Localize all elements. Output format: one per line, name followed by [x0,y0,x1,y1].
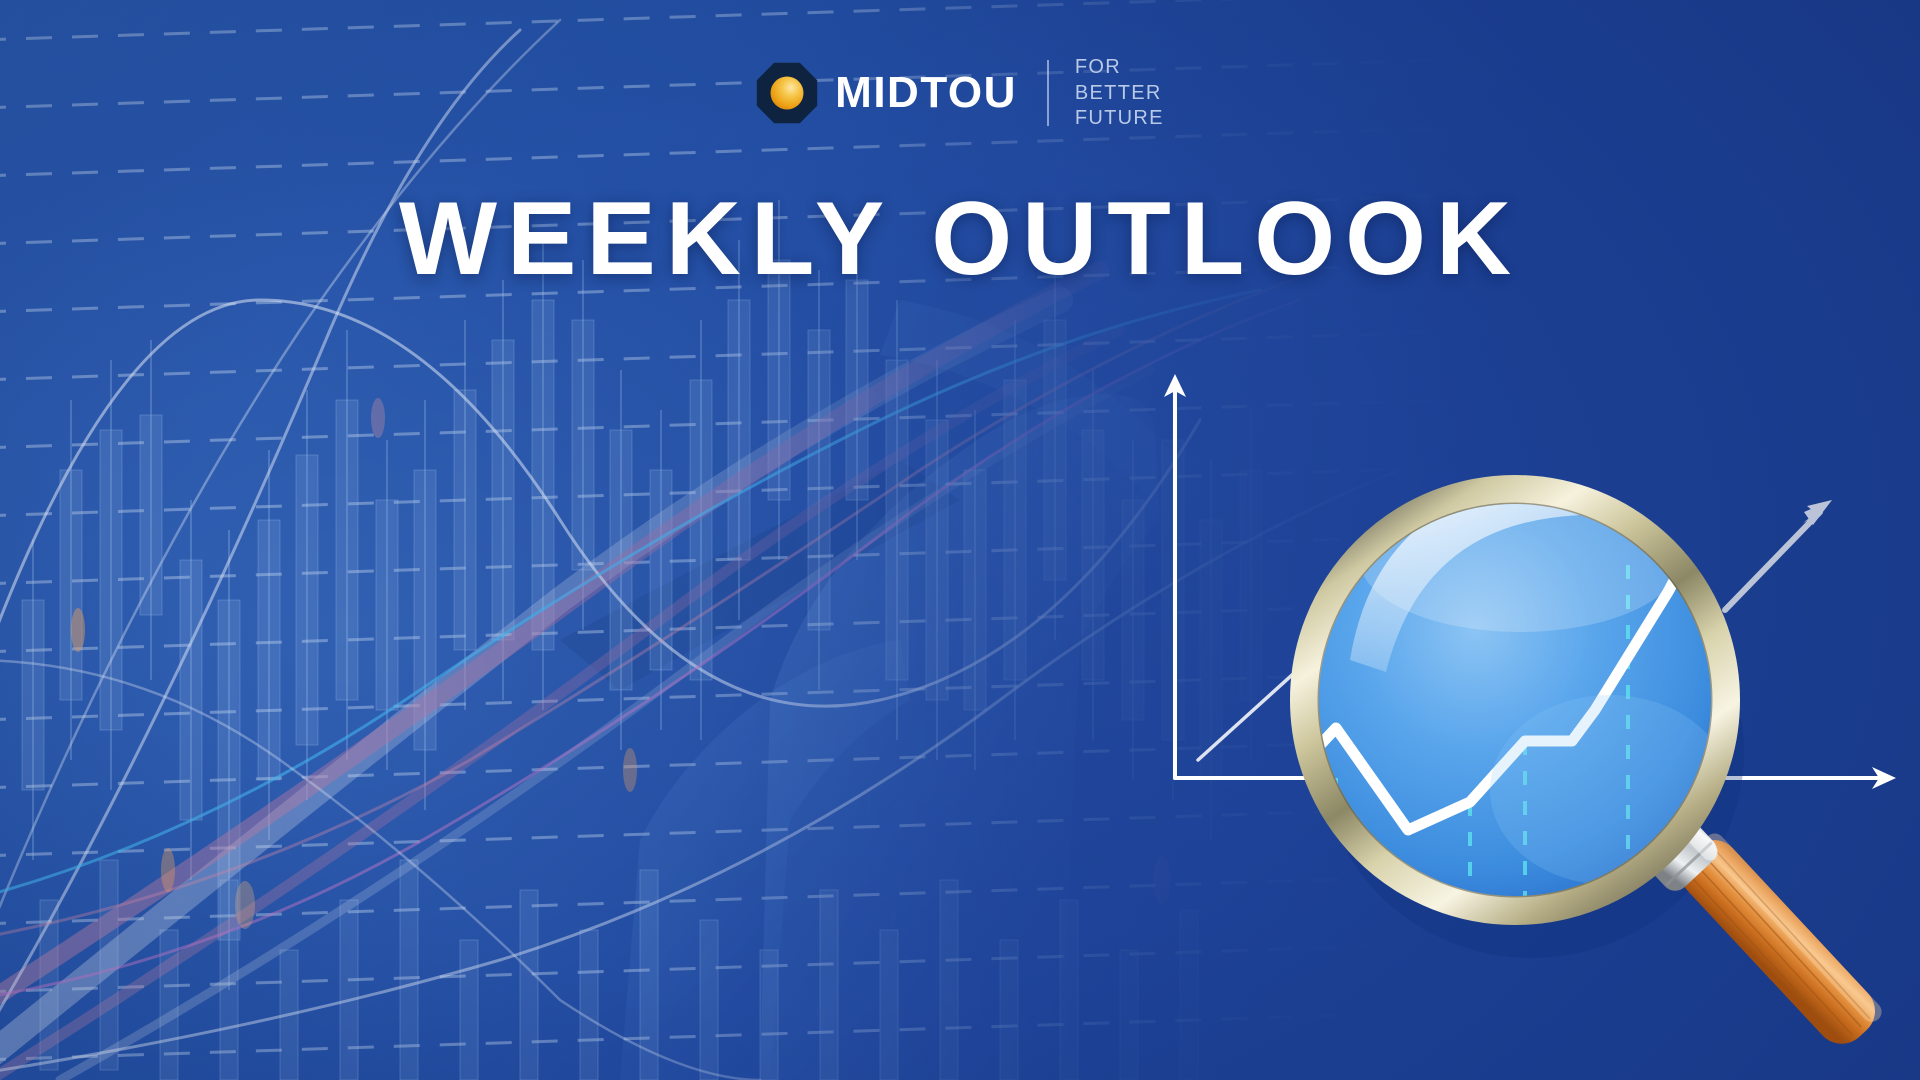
up-right-trend-arrow [1725,500,1832,610]
logo-tagline-line-3: FUTURE [1075,107,1164,129]
brand-logo: MIDTOU FOR BETTER FUTURE [0,55,1920,132]
page-title: WEEKLY OUTLOOK [0,185,1920,294]
logo-wordmark: MIDTOU [835,71,1017,115]
logo-divider [1047,60,1049,126]
magnifier-illustration [1140,360,1920,1080]
weekly-outlook-banner: MIDTOU FOR BETTER FUTURE WEEKLY OUTLOOK [0,0,1920,1080]
midtou-octagon-icon [756,62,818,124]
logo-tagline-line-1: FOR [1075,56,1121,78]
logo-tagline-line-2: BETTER [1075,82,1162,104]
logo-tagline: FOR BETTER FUTURE [1075,55,1164,132]
